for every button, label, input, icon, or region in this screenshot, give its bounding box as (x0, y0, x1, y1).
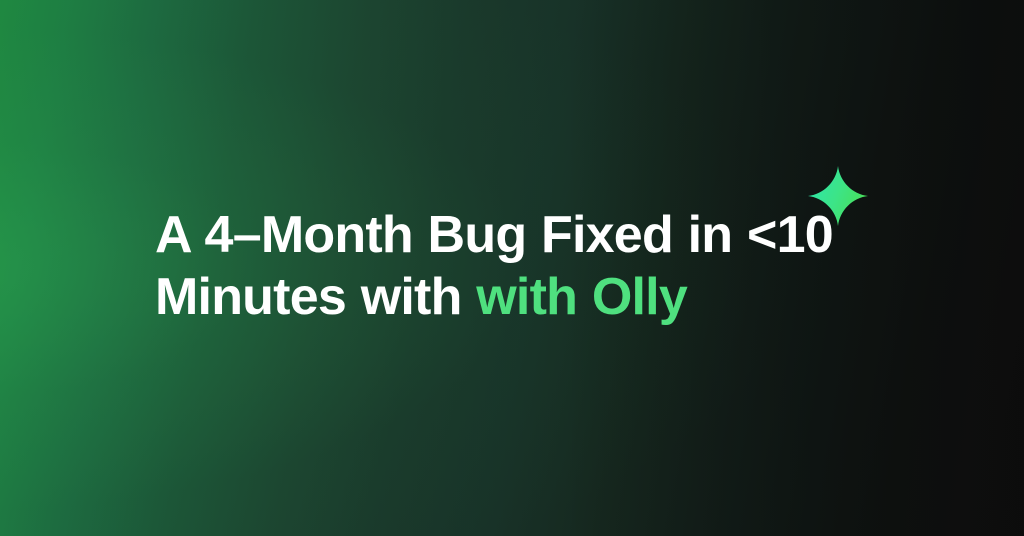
sparkle-icon (808, 165, 868, 227)
headline-block: A 4–Month Bug Fixed in <10Minutes with w… (155, 204, 885, 328)
headline-line-2-accent: with Olly (476, 268, 687, 326)
headline-line-2-plain: Minutes with (155, 268, 476, 326)
social-share-card: A 4–Month Bug Fixed in <10Minutes with w… (0, 0, 1024, 536)
page-title: A 4–Month Bug Fixed in <10Minutes with w… (155, 204, 885, 328)
headline-line-1: A 4–Month Bug Fixed in <10 (155, 206, 833, 264)
